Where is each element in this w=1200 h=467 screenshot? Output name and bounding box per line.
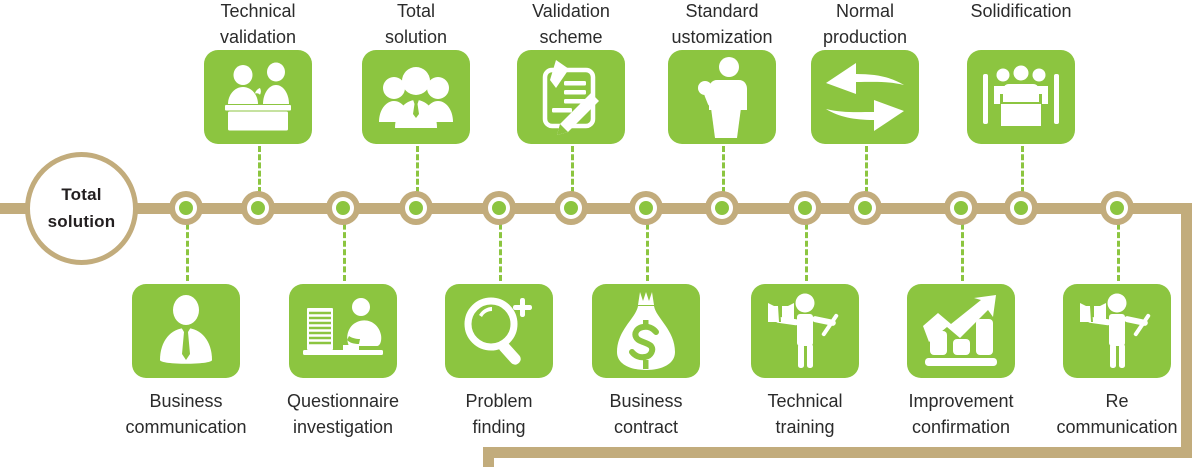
trainer-book-pointer-icon [764,292,846,370]
timeline-bottom-end-cap [483,447,494,467]
milestone-dot-2[interactable] [241,191,275,225]
connector-stem-up-3 [571,146,574,193]
step-above-4-tile[interactable] [668,50,776,144]
presenter-microphone-icon [692,56,752,138]
connector-stem-up-2 [416,146,419,193]
milestone-dot-8[interactable] [705,191,739,225]
document-pencil-icon [535,57,607,137]
step-above-5-label-line2: production [770,24,960,50]
milestone-dot-3[interactable] [326,191,360,225]
milestone-dot-7[interactable] [629,191,663,225]
milestone-dot-4[interactable] [399,191,433,225]
milestone-dot-11[interactable] [944,191,978,225]
milestone-dot-12[interactable] [1004,191,1038,225]
connector-stem-up-6 [1021,146,1024,193]
step-above-6-label-line1: Solidification [926,0,1116,24]
hub-label-line1: Total [61,182,101,208]
step-above-6-tile[interactable] [967,50,1075,144]
milestone-dot-1[interactable] [169,191,203,225]
step-below-7-label-line1: Re [1022,388,1200,414]
milestone-dot-13[interactable] [1100,191,1134,225]
step-above-5-tile[interactable] [811,50,919,144]
step-below-7-tile[interactable] [1063,284,1171,378]
milestone-dot-10[interactable] [848,191,882,225]
connector-stem-up-5 [865,146,868,193]
growth-chart-icon [919,293,1003,369]
conference-table-icon [981,64,1061,130]
step-below-3-tile[interactable] [445,284,553,378]
timeline-bottom-track [483,447,1192,458]
process-timeline-diagram: Total solution Technical validation [0,0,1200,467]
step-above-6-caption: Solidification [926,0,1116,24]
milestone-dot-5[interactable] [482,191,516,225]
meeting-table-icon [219,62,297,132]
money-bag-dollar-icon [613,290,679,372]
people-group-icon [377,64,455,130]
step-below-2-tile[interactable] [289,284,397,378]
two-arrows-icon [822,60,908,134]
step-above-2-tile[interactable] [362,50,470,144]
survey-desk-icon [301,298,385,364]
step-below-4-tile[interactable] [592,284,700,378]
step-below-7-caption: Re communication [1022,388,1200,440]
step-above-3-tile[interactable] [517,50,625,144]
hub-label-line2: solution [48,209,116,235]
connector-stem-up-1 [258,146,261,193]
step-below-6-tile[interactable] [907,284,1015,378]
milestone-dot-9[interactable] [788,191,822,225]
step-below-5-tile[interactable] [751,284,859,378]
step-below-7-label-line2: communication [1022,414,1200,440]
milestone-dot-6[interactable] [554,191,588,225]
hub-total-solution: Total solution [25,152,138,265]
businessman-tie-icon [157,294,215,368]
step-above-1-tile[interactable] [204,50,312,144]
magnifier-plus-icon [462,295,536,367]
trainer-book-pointer-icon [1076,292,1158,370]
connector-stem-up-4 [722,146,725,193]
step-below-1-tile[interactable] [132,284,240,378]
